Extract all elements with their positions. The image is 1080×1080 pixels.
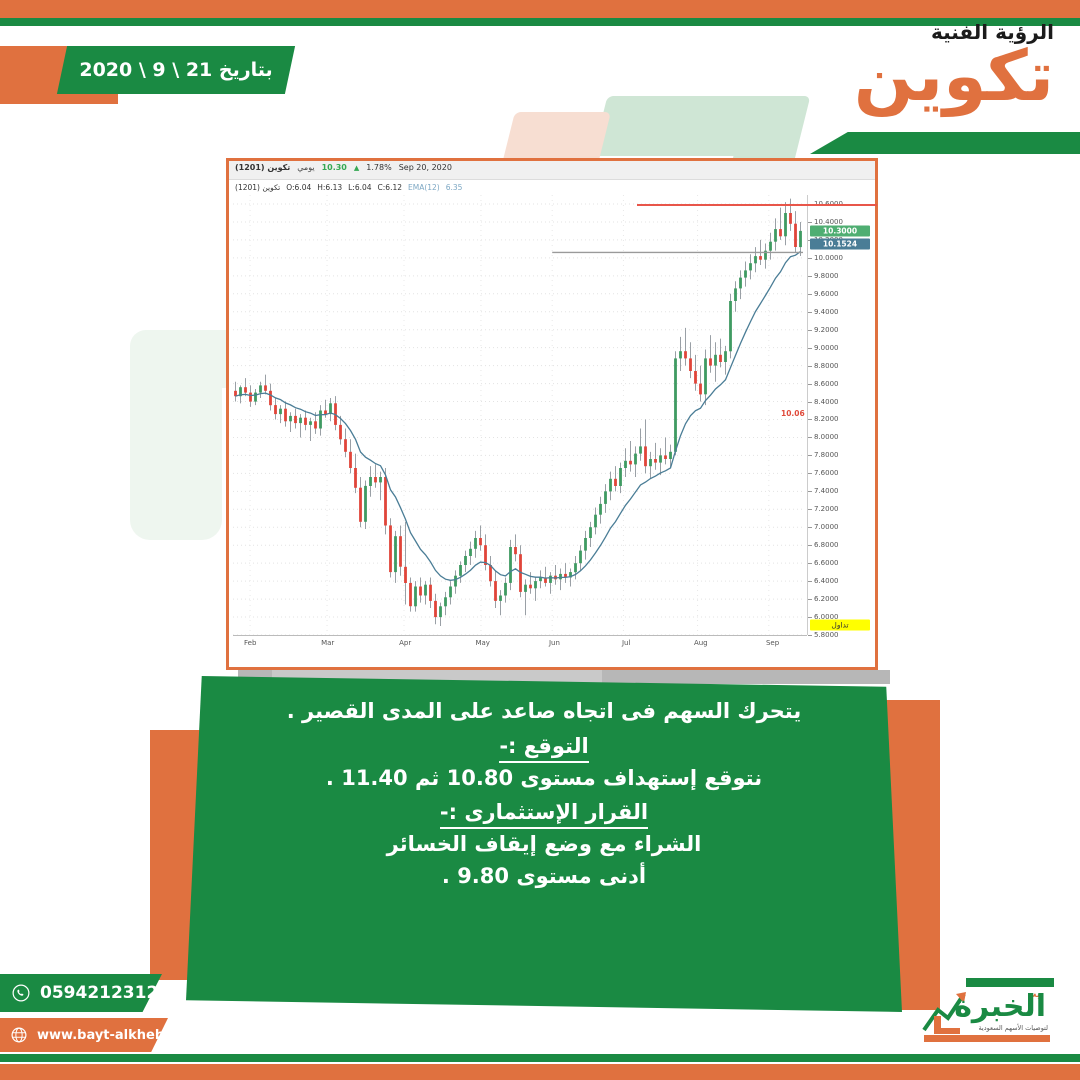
resistance-price-label: 10.06 xyxy=(781,409,805,418)
website-contact[interactable]: www.bayt-alkhebra.org xyxy=(10,1018,209,1052)
time-tick: Sep xyxy=(766,639,779,647)
time-tick: Jul xyxy=(622,639,630,647)
time-tick: May xyxy=(475,639,489,647)
logo-green-bar xyxy=(966,978,1054,987)
chart-ohlc-row: تكوين (1201) O:6.04 H:6.13 L:6.04 C:6.12… xyxy=(235,183,462,192)
time-tick: Jun xyxy=(549,639,560,647)
globe-icon xyxy=(10,1026,28,1044)
whatsapp-icon xyxy=(12,984,30,1002)
price-tick: 7.4000 xyxy=(814,487,839,495)
phone-number: 0594212312 xyxy=(40,983,158,1003)
analysis-heading-2-wrap: القرار الإستثمارى :- xyxy=(186,794,902,829)
time-tick: Mar xyxy=(321,639,334,647)
ohlc-ema-value: 6.35 xyxy=(446,183,463,192)
header-green-tail xyxy=(810,132,1080,154)
analysis-line-3: الشراء مع وضع إيقاف الخسائر xyxy=(186,829,902,861)
price-tick: 7.0000 xyxy=(814,523,839,531)
price-tick: 8.0000 xyxy=(814,433,839,441)
time-tick: Apr xyxy=(399,639,411,647)
price-tick: 7.2000 xyxy=(814,505,839,513)
price-axis[interactable]: 10.600010.400010.200010.00009.80009.6000… xyxy=(807,195,875,635)
price-tick: 8.8000 xyxy=(814,362,839,370)
price-tick: 6.6000 xyxy=(814,559,839,567)
price-tick: 5.8000 xyxy=(814,631,839,639)
watermark-shape-pale xyxy=(130,330,222,540)
price-tick: 6.4000 xyxy=(814,577,839,585)
price-tick: 9.2000 xyxy=(814,326,839,334)
analysis-line-4: أدنى مستوى 9.80 . xyxy=(186,861,902,893)
analysis-heading-1: التوقع :- xyxy=(499,734,588,763)
price-tick: 8.6000 xyxy=(814,380,839,388)
date-label: بتاريخ 21 \ 9 \ 2020 xyxy=(62,46,290,94)
last-close-badge: 10.3000 xyxy=(810,225,870,236)
analysis-heading-2: القرار الإستثمارى :- xyxy=(440,800,648,829)
price-tick: 9.0000 xyxy=(814,344,839,352)
time-axis: FebMarAprMayJunJulAugSep xyxy=(233,635,807,654)
brand-title: تكوين xyxy=(854,44,1054,108)
price-tick: 7.8000 xyxy=(814,451,839,459)
price-tick: 10.0000 xyxy=(814,254,843,262)
chart-timeframe-label[interactable]: يومي xyxy=(297,163,314,172)
time-tick: Feb xyxy=(244,639,256,647)
price-tick: 6.2000 xyxy=(814,595,839,603)
volume-tab-badge[interactable]: تداول xyxy=(810,620,870,631)
whatsapp-contact[interactable]: 0594212312 xyxy=(12,974,158,1012)
price-tick: 8.4000 xyxy=(814,398,839,406)
top-orange-rule xyxy=(0,0,1080,18)
price-tick: 9.4000 xyxy=(814,308,839,316)
chart-last-price: 10.30 xyxy=(322,163,347,172)
ohlc-close: C:6.12 xyxy=(378,183,402,192)
analysis-line-1: يتحرك السهم فى اتجاه صاعد على المدى القص… xyxy=(186,696,902,728)
time-tick: Aug xyxy=(694,639,708,647)
ohlc-series-name: تكوين (1201) xyxy=(235,183,280,192)
brand: الرؤية الفنية تكوين xyxy=(854,22,1054,108)
cursor-price-badge: 10.1524 xyxy=(810,239,870,250)
candlestick-svg xyxy=(233,195,803,635)
logo-main-word: الخبرة xyxy=(954,992,1046,1022)
bottom-green-rule xyxy=(0,1054,1080,1062)
price-tick: 8.2000 xyxy=(814,415,839,423)
price-tick: 6.8000 xyxy=(814,541,839,549)
price-tick: 7.6000 xyxy=(814,469,839,477)
price-tick: 9.8000 xyxy=(814,272,839,280)
chart-change-pct: 1.78% xyxy=(366,163,391,172)
chart-card[interactable]: تكوين (1201) يومي 10.30 ▲ 1.78% Sep 20, … xyxy=(226,158,878,670)
analysis-heading-1-wrap: التوقع :- xyxy=(186,728,902,763)
ohlc-low: L:6.04 xyxy=(348,183,371,192)
ohlc-open: O:6.04 xyxy=(286,183,311,192)
price-tick: 9.6000 xyxy=(814,290,839,298)
up-arrow-icon: ▲ xyxy=(354,164,359,172)
watermark-shape-green xyxy=(593,96,808,156)
bottom-orange-rule xyxy=(0,1064,1080,1080)
chart-date-label: Sep 20, 2020 xyxy=(399,163,452,172)
chart-symbol-row: تكوين (1201) يومي 10.30 ▲ 1.78% Sep 20, … xyxy=(235,163,452,172)
company-logo: بيت الخبرة لتوصيات الأسهم السعودية xyxy=(914,978,1054,1052)
analysis-content: يتحرك السهم فى اتجاه صاعد على المدى القص… xyxy=(186,676,902,1012)
website-url: www.bayt-alkhebra.org xyxy=(37,1028,209,1043)
chart-symbol-label: تكوين (1201) xyxy=(235,163,290,172)
analysis-line-2: نتوقع إستهداف مستوى 10.80 ثم 11.40 . xyxy=(186,763,902,795)
chart-plot-area[interactable] xyxy=(233,195,803,635)
logo-orange-bar xyxy=(924,1035,1050,1042)
logo-tagline: لتوصيات الأسهم السعودية xyxy=(978,1024,1048,1032)
ohlc-high: H:6.13 xyxy=(317,183,342,192)
poster-canvas: بتاريخ 21 \ 9 \ 2020 الرؤية الفنية تكوين… xyxy=(0,0,1080,1080)
ohlc-ema-label: EMA(12) xyxy=(408,183,440,192)
resistance-line-upper xyxy=(637,204,877,206)
